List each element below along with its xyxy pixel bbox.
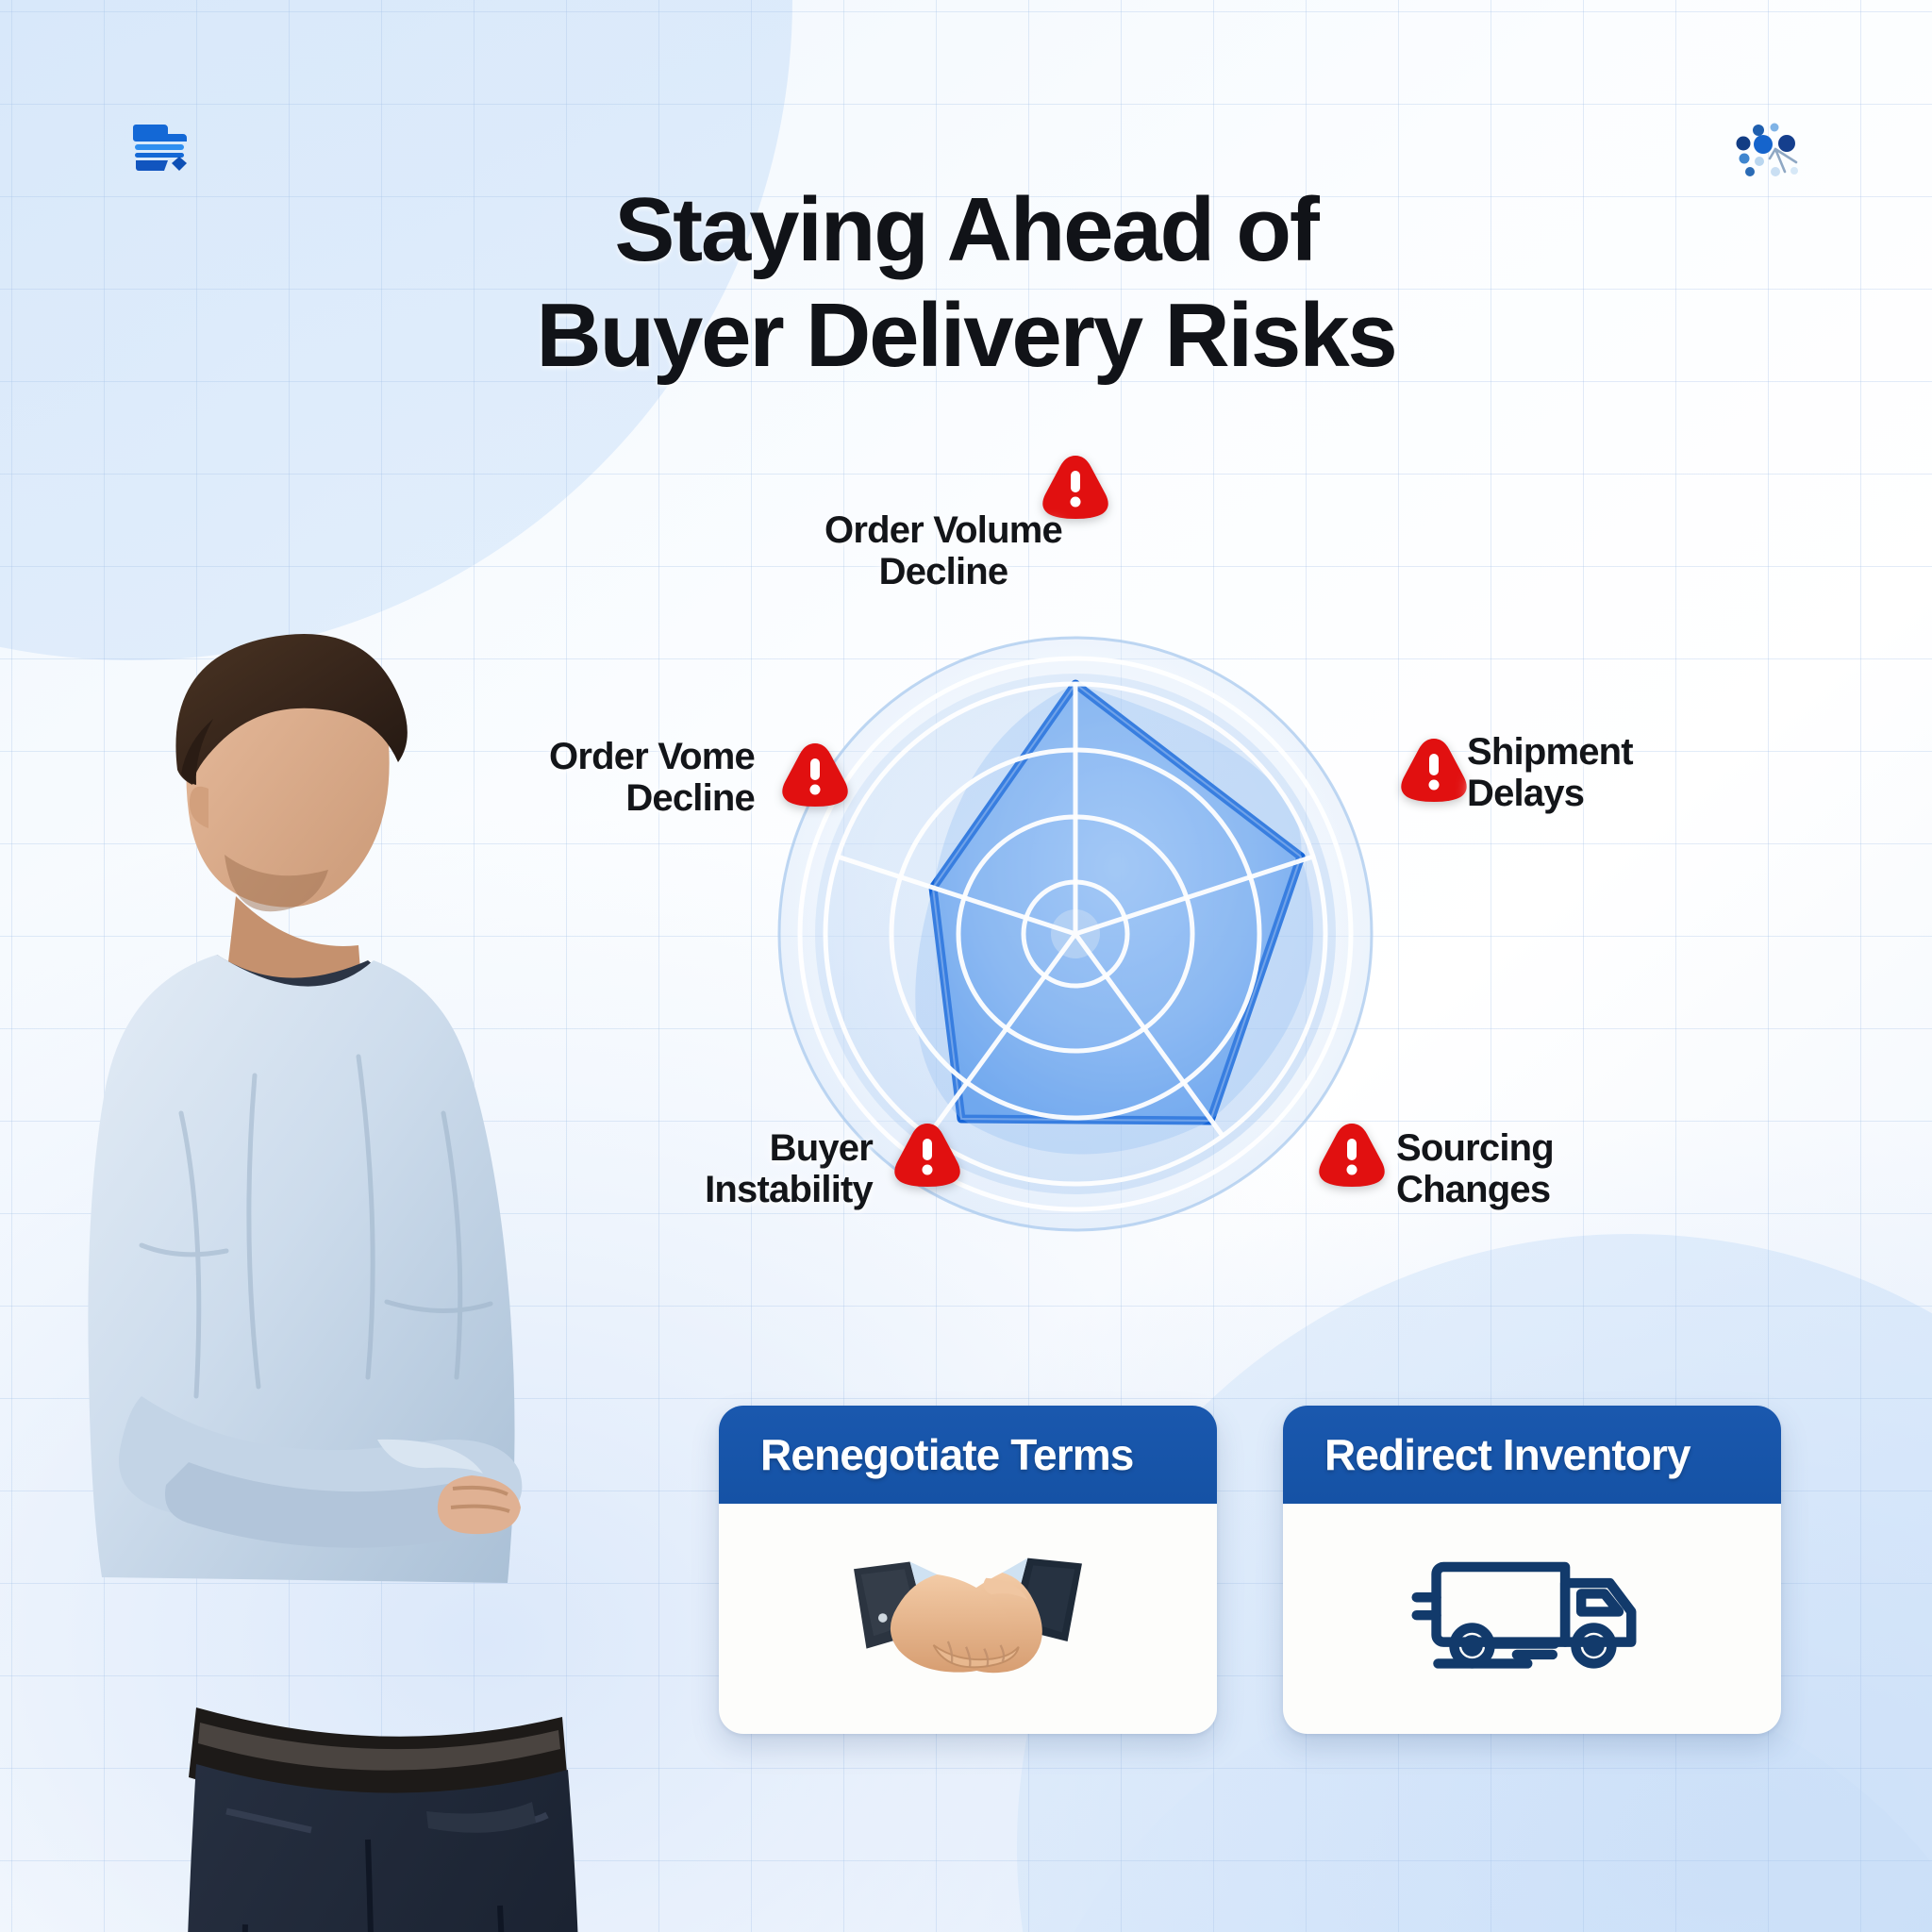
scatter-network-logo xyxy=(1732,117,1807,179)
axis-label-order-vome-decline: Order Vome Decline xyxy=(549,736,755,819)
axis-label-line-2: Decline xyxy=(824,551,1062,592)
card-body xyxy=(1283,1504,1781,1734)
axis-label-line-1: Sourcing xyxy=(1396,1127,1554,1169)
delivery-truck-icon xyxy=(1411,1547,1653,1690)
warning-triangle-icon-buyer-instability[interactable] xyxy=(891,1121,964,1187)
axis-label-line-1: Shipment xyxy=(1467,731,1633,773)
warning-triangle-icon-order-vome-decline[interactable] xyxy=(778,741,852,807)
axis-label-buyer-instability: Buyer Instability xyxy=(705,1127,873,1210)
axis-label-line-2: Changes xyxy=(1396,1169,1554,1210)
action-cards: Renegotiate Terms xyxy=(719,1406,1781,1734)
axis-label-line-2: Instability xyxy=(705,1169,873,1210)
handshake-icon xyxy=(850,1551,1086,1687)
card-header: Redirect Inventory xyxy=(1283,1406,1781,1504)
axis-label-line-1: Buyer xyxy=(705,1127,873,1169)
axis-label-sourcing-changes: Sourcing Changes xyxy=(1396,1127,1554,1210)
action-card-renegotiate-terms[interactable]: Renegotiate Terms xyxy=(719,1406,1217,1734)
axis-label-line-2: Delays xyxy=(1467,773,1633,814)
page-title-line-2: Buyer Delivery Risks xyxy=(400,283,1532,389)
warning-triangle-icon-shipment-delays[interactable] xyxy=(1397,736,1471,802)
document-stack-logo xyxy=(132,119,192,174)
card-body xyxy=(719,1504,1217,1734)
page-title: Staying Ahead of Buyer Delivery Risks xyxy=(400,177,1532,390)
axis-label-line-1: Order Vome xyxy=(549,736,755,777)
page-title-line-1: Staying Ahead of xyxy=(614,179,1317,280)
axis-label-line-2: Decline xyxy=(549,777,755,819)
axis-label-shipment-delays: Shipment Delays xyxy=(1467,731,1633,814)
action-card-redirect-inventory[interactable]: Redirect Inventory xyxy=(1283,1406,1781,1734)
card-header: Renegotiate Terms xyxy=(719,1406,1217,1504)
axis-label-order-volume-decline: Order Volume Decline xyxy=(824,509,1062,592)
warning-triangle-icon-sourcing-changes[interactable] xyxy=(1315,1121,1389,1187)
card-title: Redirect Inventory xyxy=(1324,1429,1690,1480)
card-title: Renegotiate Terms xyxy=(760,1429,1133,1480)
axis-label-line-1: Order Volume xyxy=(824,509,1062,551)
infographic-canvas: Staying Ahead of Buyer Delivery Risks xyxy=(0,0,1932,1932)
